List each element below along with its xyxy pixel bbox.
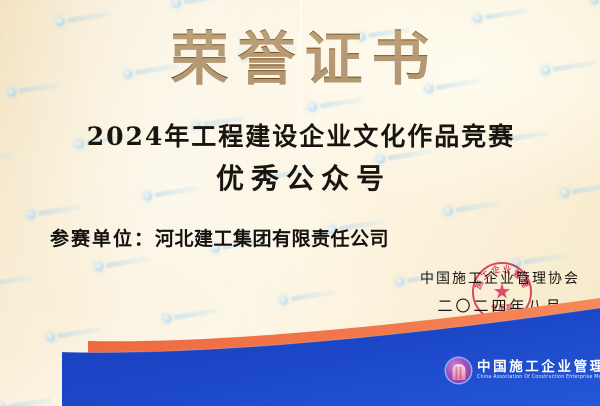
association-watermark-icon [308, 95, 365, 113]
bottom-ribbon-decoration [0, 286, 600, 406]
footer-association-logo: 中国施工企业管理协会 China Association Of Construc… [446, 358, 600, 383]
association-watermark-icon [511, 251, 568, 269]
association-watermark-icon [26, 202, 83, 220]
association-watermark-icon [172, 0, 229, 8]
ribbon-blue [62, 308, 600, 406]
association-watermark-icon [473, 6, 530, 24]
association-watermark-icon [443, 199, 500, 217]
certificate-canvas: 荣誉证书 2024年工程建设企业文化作品竞赛 优秀公众号 参赛单位：河北建工集团… [0, 0, 600, 406]
page-title: 荣誉证书 [0, 26, 600, 93]
issuer-name: 中国施工企业管理协会 [414, 268, 584, 288]
award-category-line: 优秀公众号 [0, 157, 600, 197]
footer-org-name-cn: 中国施工企业管理协会 [477, 360, 600, 374]
participating-unit-row: 参赛单位：河北建工集团有限责任公司 [50, 224, 389, 251]
participating-unit-label: 参赛单位： [50, 228, 155, 250]
association-emblem-icon [446, 358, 471, 383]
footer-org-name-en: China Association Of Construction Enterp… [477, 376, 600, 381]
footer-logo-text: 中国施工企业管理协会 China Association Of Construc… [477, 360, 600, 381]
award-competition-line: 2024年工程建设企业文化作品竞赛 [0, 117, 600, 153]
emblem-tower-glyph [452, 364, 465, 380]
participating-unit-value: 河北建工集团有限责任公司 [155, 228, 389, 250]
association-watermark-icon [94, 254, 151, 272]
